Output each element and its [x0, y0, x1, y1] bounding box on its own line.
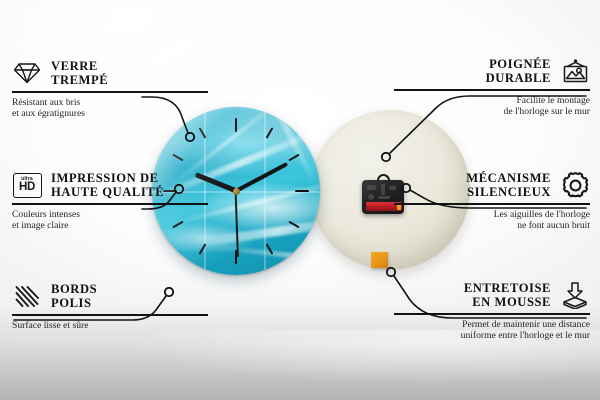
feature-rule — [12, 203, 208, 205]
feature-header: MÉCANISME SILENCIEUX — [394, 170, 590, 200]
feature-title: POIGNÉE DURABLE — [486, 57, 551, 86]
diamond-icon — [12, 58, 42, 88]
feature-verre-trempe: VERRE TREMPÉ Résistant aux bris et aux é… — [12, 58, 208, 120]
feature-description: Résistant aux bris et aux égratignures — [12, 97, 208, 120]
foam-spacer — [371, 252, 388, 268]
feature-rule — [394, 203, 590, 205]
polished-edge-icon — [12, 281, 42, 311]
feature-header: BORDS POLIS — [12, 281, 208, 311]
feature-title: VERRE TREMPÉ — [51, 59, 108, 88]
feature-title: MÉCANISME SILENCIEUX — [466, 171, 551, 200]
feature-rule — [394, 313, 590, 315]
feature-header: VERRE TREMPÉ — [12, 58, 208, 88]
gear-icon — [560, 170, 590, 200]
feature-mecanisme-silencieux: MÉCANISME SILENCIEUX Les aiguilles de l'… — [394, 170, 590, 232]
feature-entretoise-en-mousse: ENTRETOISE EN MOUSSE Permet de maintenir… — [394, 280, 590, 342]
ultra-hd-icon: ultra HD — [12, 170, 42, 200]
feature-impression-haute-qualite: ultra HD IMPRESSION DE HAUTE QUALITÉ Cou… — [12, 170, 208, 232]
hd-badge-hd: HD — [19, 182, 35, 194]
feature-rule — [394, 89, 590, 91]
infographic-stage: VERRE TREMPÉ Résistant aux bris et aux é… — [0, 0, 600, 400]
feature-description: Permet de maintenir une distance uniform… — [394, 319, 590, 342]
feature-rule — [12, 91, 208, 93]
feature-title: BORDS POLIS — [51, 282, 97, 311]
feature-title: ENTRETOISE EN MOUSSE — [464, 281, 551, 310]
hd-badge: ultra HD — [13, 173, 42, 198]
feature-description: Surface lisse et sûre — [12, 320, 208, 332]
feature-description: Les aiguilles de l'horloge ne font aucun… — [394, 209, 590, 232]
foam-spacer-icon — [560, 280, 590, 310]
feature-title: IMPRESSION DE HAUTE QUALITÉ — [51, 171, 164, 200]
feature-bords-polis: BORDS POLIS Surface lisse et sûre — [12, 281, 208, 331]
feature-description: Couleurs intenses et image claire — [12, 209, 208, 232]
wall-hanger-icon — [560, 56, 590, 86]
feature-header: ENTRETOISE EN MOUSSE — [394, 280, 590, 310]
feature-header: POIGNÉE DURABLE — [394, 56, 590, 86]
feature-poignee-durable: POIGNÉE DURABLE Facilite le montage de l… — [394, 56, 590, 118]
feature-description: Facilite le montage de l'horloge sur le … — [394, 95, 590, 118]
feature-rule — [12, 314, 208, 316]
feature-header: ultra HD IMPRESSION DE HAUTE QUALITÉ — [12, 170, 208, 200]
